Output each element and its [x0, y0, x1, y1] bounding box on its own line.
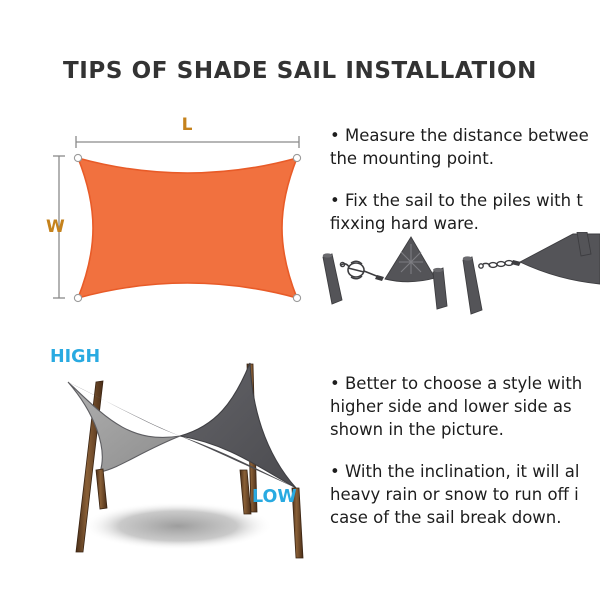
tips-text-bottom: • Better to choose a style with higher s…: [330, 372, 600, 529]
bullet-measure-distance: • Measure the distance betwee the mounti…: [330, 124, 600, 170]
bullet-inclination-runoff: • With the inclination, it will al heavy…: [330, 460, 600, 529]
length-dimension-line: [76, 136, 299, 148]
sail-dimensions-svg: L W: [40, 112, 320, 312]
post-icon: [323, 254, 342, 304]
hardware-turnbuckle-assembly: [323, 237, 447, 309]
shade-sail-body: [78, 158, 297, 298]
hardware-chain-assembly: [463, 232, 600, 314]
high-low-svg: HIGH LOW: [28, 340, 333, 570]
sail-corner-plate: [385, 237, 435, 282]
post-front-mid: [240, 470, 251, 514]
tips-text-top: • Measure the distance betwee the mounti…: [330, 124, 600, 235]
chain-icon: [489, 261, 513, 268]
bullet-choose-style: • Better to choose a style with higher s…: [330, 372, 600, 441]
rectangular-sail-diagram: L W: [40, 112, 320, 312]
snap-hook-icon: [479, 264, 483, 268]
hardware-illustrations: [315, 232, 600, 324]
low-label: LOW: [252, 487, 297, 507]
shade-sail-dark: [180, 363, 296, 488]
turnbuckle-icon: [348, 261, 364, 279]
inclination-diagram: HIGH LOW: [28, 340, 333, 570]
bullet-fix-sail-to-piles: • Fix the sail to the piles with t fixxi…: [330, 189, 600, 235]
hardware-svg: [315, 232, 600, 324]
page-title: TIPS OF SHADE SAIL INSTALLATION: [0, 58, 600, 84]
infographic-page: TIPS OF SHADE SAIL INSTALLATION L W: [0, 0, 600, 600]
width-label: W: [46, 217, 65, 237]
length-label: L: [182, 115, 193, 135]
high-label: HIGH: [50, 347, 100, 367]
shade-sail-light: [68, 382, 180, 472]
post-front-left: [96, 469, 107, 509]
post-icon: [433, 268, 447, 309]
